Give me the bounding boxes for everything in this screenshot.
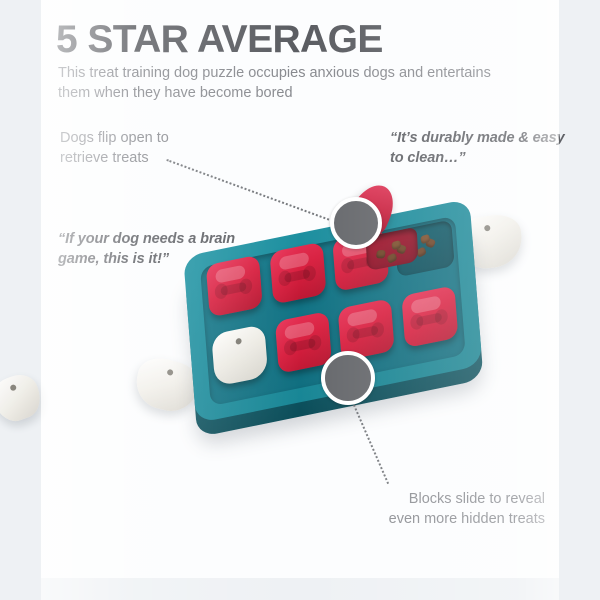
product-image (0, 180, 600, 460)
bone-imprint-icon (289, 338, 315, 352)
quote-durable: “It’s durably made & easy to clean…” (390, 128, 570, 168)
page-subtitle: This treat training dog puzzle occupies … (58, 64, 508, 103)
bone-imprint-icon (352, 325, 378, 339)
sliding-block-red (269, 242, 326, 305)
sliding-block-bone (211, 324, 268, 387)
grid-cell (204, 258, 266, 333)
bone-block-loose-edge (0, 369, 46, 426)
grid-cell (210, 327, 272, 402)
callout-flip-open: Dogs flip open to retrieve treats (60, 128, 220, 168)
bone-imprint-icon (284, 269, 310, 283)
page-title: 5 STAR AVERAGE (56, 17, 383, 63)
bone-imprint-icon (415, 312, 441, 326)
grid-cell (267, 245, 329, 320)
bone-imprint-icon (220, 282, 246, 296)
callout-marker-flip-open[interactable] (330, 197, 382, 249)
callout-blocks-slide: Blocks slide to reveal even more hidden … (385, 489, 545, 529)
sliding-block-red (274, 311, 331, 374)
grid-cell (399, 289, 461, 364)
callout-marker-blocks-slide[interactable] (321, 351, 375, 405)
quote-brain-game: “If your dog needs a brain game, this is… (58, 229, 248, 269)
sliding-block-red (401, 285, 458, 348)
infographic-page: 5 STAR AVERAGE This treat training dog p… (0, 0, 600, 600)
